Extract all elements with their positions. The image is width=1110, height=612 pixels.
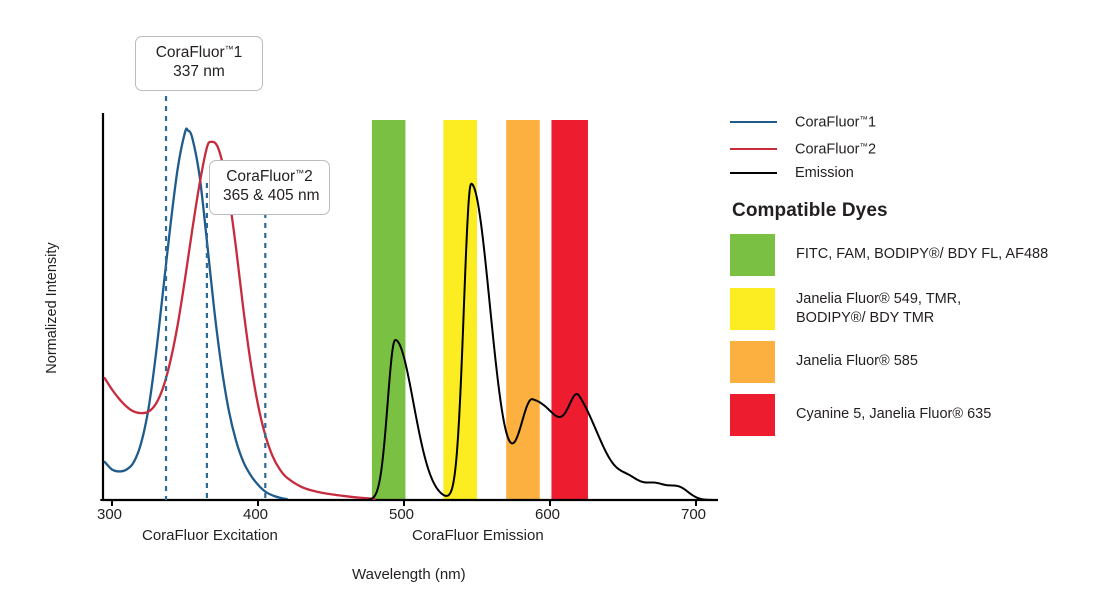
spectra-chart: CoraFluor™1 337 nm CoraFluor™2 365 & 405… <box>0 0 730 612</box>
x-tick-500: 500 <box>389 506 414 523</box>
dye-color-swatch-red <box>730 394 775 436</box>
legend-label-corafluor-1: CoraFluor™1 <box>795 114 876 131</box>
annotation-title-1: CoraFluor™1 <box>149 44 249 63</box>
emission-band-0 <box>372 120 406 500</box>
dye-row-cyanine-5: Cyanine 5, Janelia Fluor® 635 <box>730 394 991 436</box>
dye-row-janelia-549: Janelia Fluor® 549, TMR, BODIPY®/ BDY TM… <box>730 288 961 330</box>
dye-label-fitc: FITC, FAM, BODIPY®/ BDY FL, AF488 <box>796 234 1048 264</box>
x-tick-400: 400 <box>243 506 268 523</box>
legend-line-swatch-emission <box>730 172 777 174</box>
emission-band-3 <box>551 120 588 500</box>
region-label-emission: CoraFluor Emission <box>412 527 544 544</box>
dye-color-swatch-green <box>730 234 775 276</box>
dye-row-janelia-585: Janelia Fluor® 585 <box>730 341 918 383</box>
compatible-dyes-heading: Compatible Dyes <box>732 200 888 222</box>
annotation-corafluor-2: CoraFluor™2 365 & 405 nm <box>209 160 330 215</box>
dye-color-swatch-yellow <box>730 288 775 330</box>
legend-panel: CoraFluor™1 CoraFluor™2 Emission Compati… <box>730 0 1110 612</box>
annotation-value-2: 365 & 405 nm <box>223 187 316 206</box>
legend-label-corafluor-2: CoraFluor™2 <box>795 141 876 158</box>
legend-item-emission: Emission <box>730 164 854 182</box>
x-tick-600: 600 <box>535 506 560 523</box>
dye-label-cyanine-5: Cyanine 5, Janelia Fluor® 635 <box>796 394 991 424</box>
emission-band-1 <box>443 120 477 500</box>
dye-label-janelia-585: Janelia Fluor® 585 <box>796 341 918 371</box>
annotation-corafluor-1: CoraFluor™1 337 nm <box>135 36 263 91</box>
x-axis-label: Wavelength (nm) <box>352 566 466 583</box>
dye-color-swatch-orange <box>730 341 775 383</box>
dye-row-fitc: FITC, FAM, BODIPY®/ BDY FL, AF488 <box>730 234 1048 276</box>
x-tick-700: 700 <box>681 506 706 523</box>
dye-label-janelia-549: Janelia Fluor® 549, TMR, BODIPY®/ BDY TM… <box>796 288 961 327</box>
legend-label-emission: Emission <box>795 165 854 181</box>
legend-item-corafluor-1: CoraFluor™1 <box>730 113 876 131</box>
region-label-excitation: CoraFluor Excitation <box>142 527 278 544</box>
legend-line-swatch-corafluor-2 <box>730 148 777 150</box>
legend-line-swatch-corafluor-1 <box>730 121 777 123</box>
y-axis-label: Normalized Intensity <box>44 228 60 388</box>
figure-root: CoraFluor™1 337 nm CoraFluor™2 365 & 405… <box>0 0 1110 612</box>
x-tick-300: 300 <box>97 506 122 523</box>
annotation-title-2: CoraFluor™2 <box>223 168 316 187</box>
legend-item-corafluor-2: CoraFluor™2 <box>730 140 876 158</box>
annotation-value-1: 337 nm <box>149 63 249 82</box>
